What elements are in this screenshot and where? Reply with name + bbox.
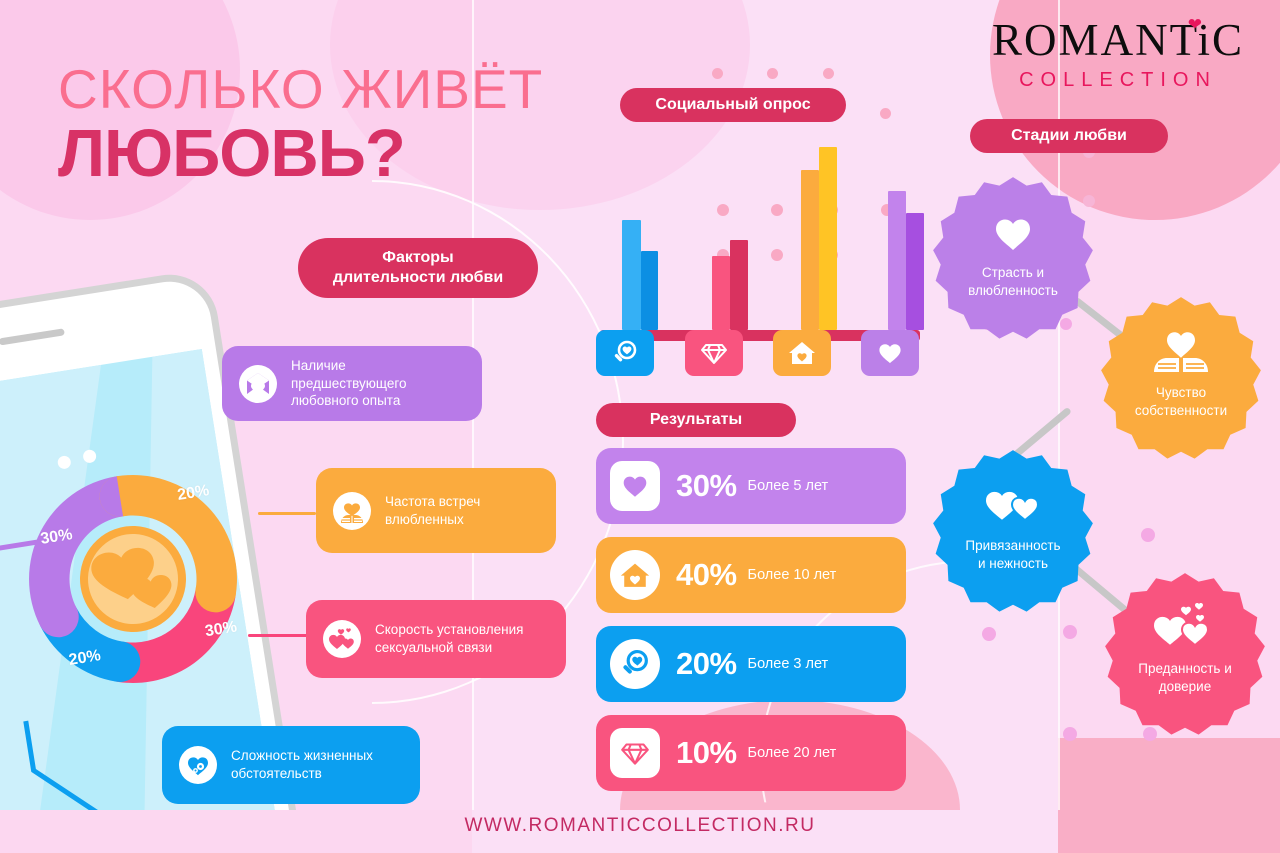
diamond-icon — [699, 338, 729, 368]
scallop-shape — [1096, 292, 1266, 462]
chart-bar — [641, 251, 658, 330]
result-caption-2: Более 3 лет — [748, 656, 829, 672]
decorative-dot — [880, 108, 891, 119]
heart-gears-icon — [178, 745, 218, 785]
factor-card-1[interactable]: Частота встречвлюбленных — [316, 468, 556, 553]
diamond-icon — [619, 737, 651, 769]
chart-category-diamond[interactable] — [685, 330, 743, 376]
result-badge-1 — [610, 550, 660, 600]
result-caption-0: Более 5 лет — [748, 478, 829, 494]
donut-chart: 30% 20% 30% 20% — [0, 418, 294, 741]
chart-bar — [712, 256, 730, 330]
result-caption-1: Более 10 лет — [748, 567, 837, 583]
decorative-dot — [1141, 528, 1155, 542]
home-heart-icon — [787, 338, 817, 368]
stage-badge-1-label: Чувствособственности — [1111, 384, 1251, 419]
result-badge-2 — [610, 639, 660, 689]
chart-bar — [801, 170, 819, 330]
result-row-1[interactable]: 40% Более 10 лет — [596, 537, 906, 613]
factor-card-1-label: Частота встречвлюбленных — [385, 493, 480, 529]
pill-stages: Стадии любви — [970, 119, 1168, 153]
scallop-shape — [928, 172, 1098, 342]
decorative-dot — [982, 627, 996, 641]
connector-1 — [258, 512, 316, 515]
stage-badge-0[interactable]: Страсть ивлюбленность — [928, 172, 1098, 342]
chart-bar — [888, 191, 906, 330]
factor-card-0-label: Наличиепредшествующеголюбовного опыта — [291, 357, 407, 411]
result-row-2[interactable]: 20% Более 3 лет — [596, 626, 906, 702]
decorative-dot — [823, 68, 834, 79]
result-row-0[interactable]: 30% Более 5 лет — [596, 448, 906, 524]
donut-center — [72, 518, 193, 639]
stage-badge-0-label: Страсть ивлюбленность — [943, 264, 1083, 299]
stage-badge-2-label: Привязанностьи нежность — [943, 537, 1083, 572]
result-percent-3: 10% — [676, 735, 737, 771]
stage-badge-1[interactable]: Чувствособственности — [1096, 292, 1266, 462]
result-percent-1: 40% — [676, 557, 737, 593]
pill-results: Результаты — [596, 403, 796, 437]
factor-card-2-label: Скорость установлениясексуальной связи — [375, 621, 523, 657]
home-heart-icon — [618, 558, 652, 592]
phone-speaker — [0, 328, 65, 345]
stage-badge-3-label: Преданность идоверие — [1115, 660, 1255, 695]
hearts-sparkle-icon — [1150, 608, 1220, 650]
chart-bar — [819, 147, 837, 330]
chart-bar — [906, 213, 924, 330]
two-hearts-icon — [322, 619, 362, 659]
pill-factors-line2: длительности любви — [333, 268, 503, 288]
search-heart-icon — [610, 338, 640, 368]
chart-category-search-heart[interactable] — [596, 330, 654, 376]
result-row-3[interactable]: 10% Более 20 лет — [596, 715, 906, 791]
hands-heart-icon — [332, 491, 372, 531]
scallop-shape — [1100, 568, 1270, 738]
connector-2 — [248, 634, 310, 637]
chart-category-heart[interactable] — [861, 330, 919, 376]
stage-badge-2[interactable]: Привязанностьи нежность — [928, 445, 1098, 615]
result-caption-3: Более 20 лет — [748, 745, 837, 761]
heart-icon: ❤ — [1188, 16, 1204, 33]
result-percent-0: 30% — [676, 468, 737, 504]
heart-icon — [875, 338, 905, 368]
single-heart-icon — [989, 212, 1037, 254]
factor-card-3-label: Сложность жизненныхобстоятельств — [231, 747, 373, 783]
decorative-dot — [767, 68, 778, 79]
headline-line-2: ЛЮБОВЬ? — [58, 119, 658, 189]
stage-badge-3[interactable]: Преданность идоверие — [1100, 568, 1270, 738]
heart-icon — [619, 470, 651, 502]
infographic-poster: 30% 20% 30% 20% СКОЛЬКО ЖИВЁТ ЛЮБОВЬ? RO… — [0, 0, 1280, 853]
decorative-dot — [1063, 625, 1077, 639]
page-title: СКОЛЬКО ЖИВЁТ ЛЮБОВЬ? — [58, 62, 658, 189]
chart-bar — [730, 240, 748, 330]
bar-chart — [600, 140, 920, 330]
factor-card-0[interactable]: Наличиепредшествующеголюбовного опыта — [222, 346, 482, 421]
website-url[interactable]: WWW.ROMANTICCOLLECTION.RU — [0, 815, 1280, 837]
pill-survey: Социальный опрос — [620, 88, 846, 122]
hands-heart-icon — [1150, 332, 1212, 374]
double-hearts-icon — [980, 485, 1046, 527]
brand-logo: ROMANTiC ❤ COLLECTION — [992, 18, 1244, 92]
decorative-dot — [712, 68, 723, 79]
decorative-dot — [1063, 727, 1077, 741]
result-badge-3 — [610, 728, 660, 778]
factor-card-2[interactable]: Скорость установлениясексуальной связи — [306, 600, 566, 678]
envelope-heart-icon — [238, 364, 278, 404]
chart-bar — [622, 220, 641, 330]
logo-subtext: COLLECTION — [992, 69, 1244, 92]
chart-category-home-heart[interactable] — [773, 330, 831, 376]
factor-card-3[interactable]: Сложность жизненныхобстоятельств — [162, 726, 420, 804]
result-percent-2: 20% — [676, 646, 737, 682]
pill-factors: Факторы длительности любви — [298, 238, 538, 298]
result-badge-0 — [610, 461, 660, 511]
scallop-shape — [928, 445, 1098, 615]
search-heart-icon — [618, 647, 652, 681]
logo-text: ROMANTiC — [992, 15, 1244, 65]
pill-factors-line1: Факторы — [382, 248, 453, 268]
logo-wordmark: ROMANTiC ❤ — [992, 18, 1244, 63]
headline-line-1: СКОЛЬКО ЖИВЁТ — [58, 62, 658, 117]
